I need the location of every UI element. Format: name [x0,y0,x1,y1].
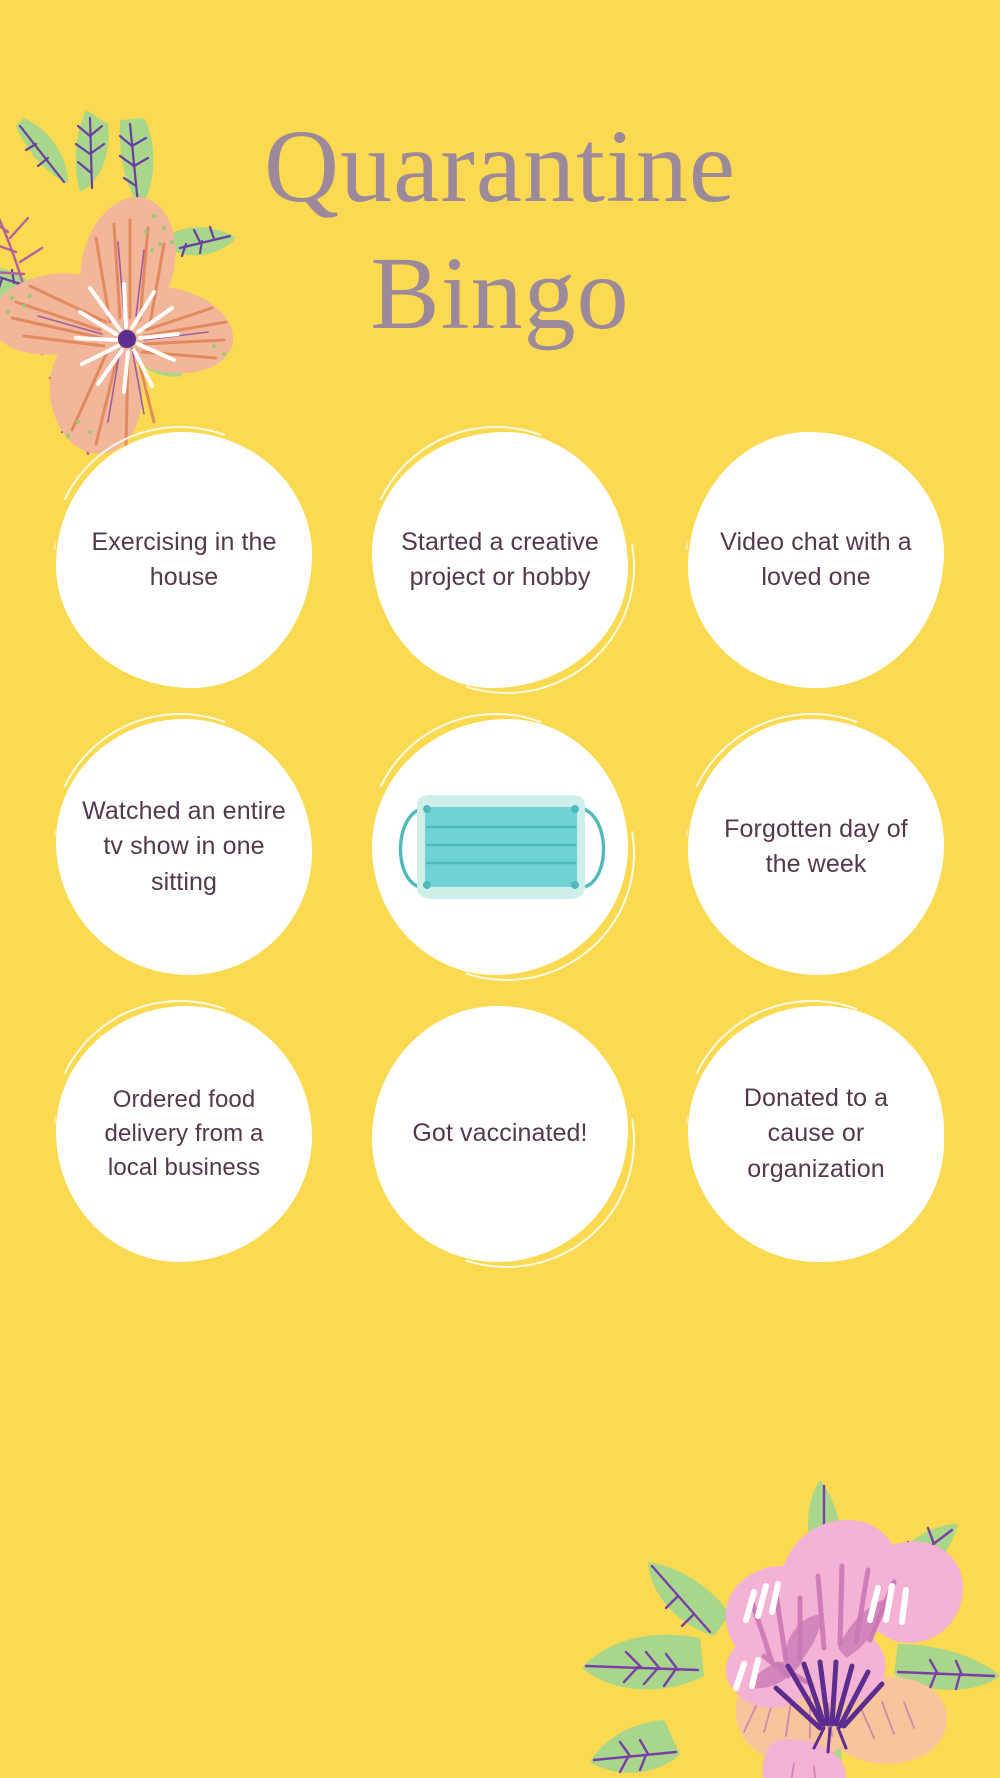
floral-decoration-bottom-right [538,1376,1000,1778]
bingo-cell-4[interactable]: Watched an entire tv show in one sitting [56,719,312,975]
bingo-cell-7[interactable]: Ordered food delivery from a local busin… [56,1006,312,1262]
bingo-cell-9[interactable]: Donated to a cause or organization [688,1006,944,1262]
peach-flower-icon [0,92,268,462]
page-title: Quarantine Bingo [0,104,1000,358]
bingo-cell-8[interactable]: Got vaccinated! [372,1006,628,1262]
quarantine-bingo-poster: Quarantine Bingo Exercising in the house… [0,0,1000,1778]
bingo-cell-1[interactable]: Exercising in the house [56,432,312,688]
title-line-1: Quarantine [0,104,1000,231]
bingo-cell-label: Ordered food delivery from a local busin… [79,1083,289,1185]
bingo-grid: Exercising in the house Started a creati… [56,432,944,1262]
bingo-cell-3[interactable]: Video chat with a loved one [688,432,944,688]
title-line-2: Bingo [0,231,1000,358]
bingo-cell-6[interactable]: Forgotten day of the week [688,719,944,975]
bingo-cell-label: Exercising in the house [79,525,289,596]
flower-center [118,330,136,348]
pink-peony-icon [538,1376,1000,1778]
bingo-cell-2[interactable]: Started a creative project or hobby [372,432,628,688]
bingo-cell-label: Started a creative project or hobby [395,525,605,596]
face-mask-icon [387,787,613,907]
bingo-cell-label: Forgotten day of the week [711,812,921,883]
bingo-cell-5-free[interactable] [372,719,628,975]
bingo-cell-label: Donated to a cause or organization [711,1081,921,1188]
bingo-cell-label: Watched an entire tv show in one sitting [79,794,289,901]
bingo-cell-label: Video chat with a loved one [711,525,921,596]
bingo-cell-label: Got vaccinated! [395,1116,605,1152]
floral-decoration-top-left [0,92,268,462]
